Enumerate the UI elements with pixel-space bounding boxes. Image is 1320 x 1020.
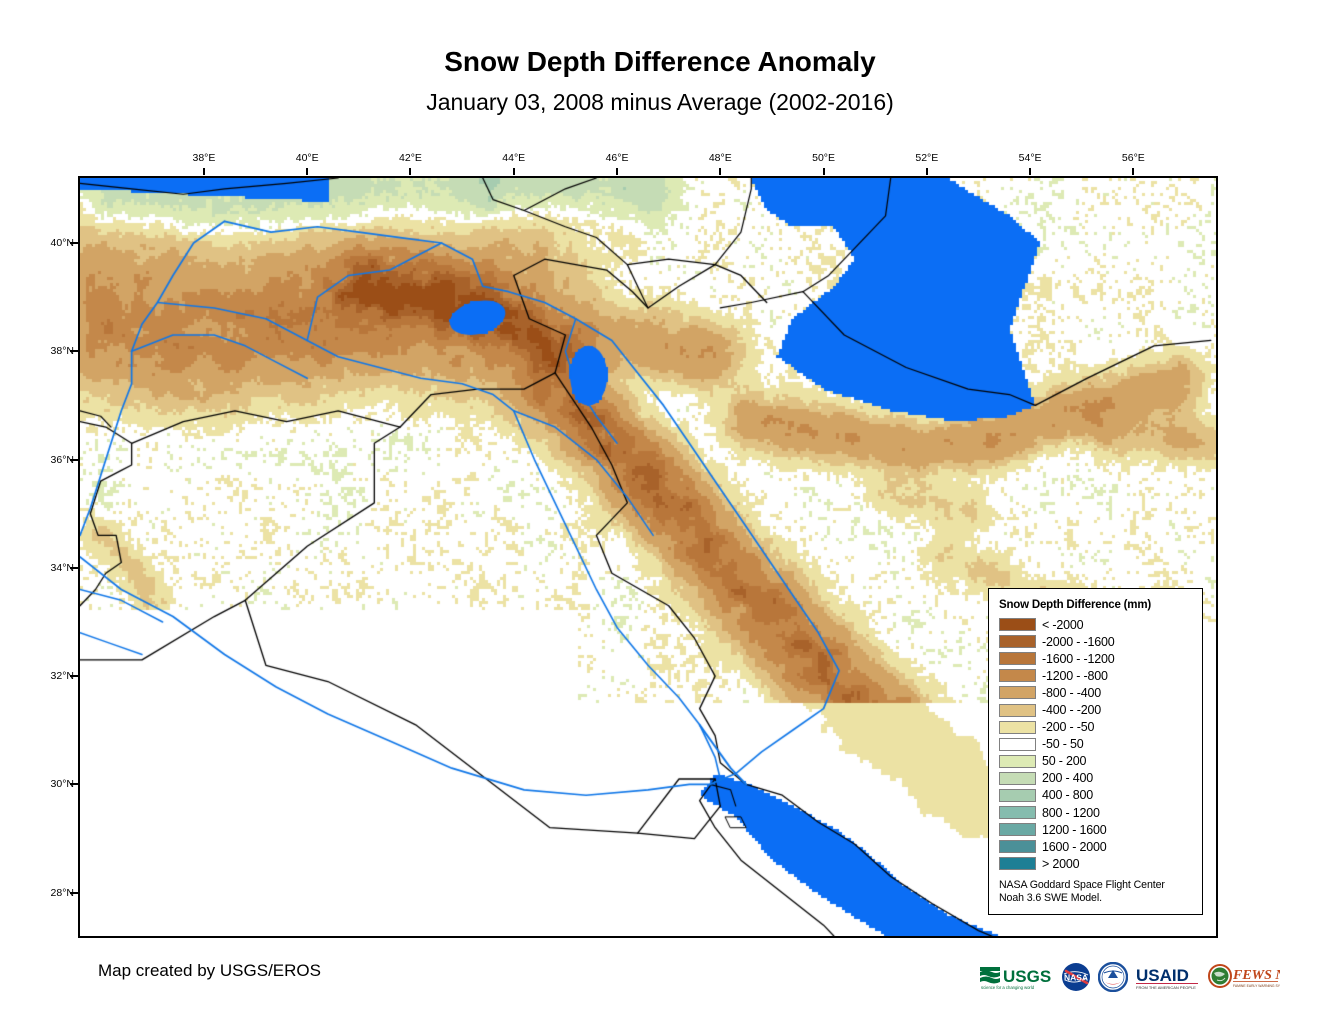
legend-item-label: 800 - 1200: [1042, 806, 1100, 820]
legend-swatch: [999, 618, 1036, 631]
legend-source-line-2: Noah 3.6 SWE Model.: [999, 892, 1194, 905]
legend-item: 1200 - 1600: [999, 821, 1194, 838]
lon-tick: [306, 168, 308, 175]
legend-item-label: 200 - 400: [1042, 771, 1093, 785]
svg-text:USGS: USGS: [1003, 967, 1051, 986]
legend-item: > 2000: [999, 855, 1194, 872]
map-page: Snow Depth Difference Anomaly January 03…: [0, 0, 1320, 1020]
fewsnet-logo: FEWS NET FAMINE EARLY WARNING SYSTEMS NE…: [1208, 961, 1280, 993]
lon-tick: [1132, 168, 1134, 175]
lon-label: 56°E: [1122, 152, 1145, 164]
legend-swatch: [999, 789, 1036, 802]
lat-tick: [70, 459, 78, 461]
lat-label: 40°N: [36, 237, 74, 249]
legend-item-label: -800 - -400: [1042, 686, 1101, 700]
legend-panel: Snow Depth Difference (mm) < -2000-2000 …: [988, 588, 1203, 915]
legend-item: -400 - -200: [999, 701, 1194, 718]
lon-tick: [1029, 168, 1031, 175]
lat-label: 34°N: [36, 562, 74, 574]
lon-label: 52°E: [915, 152, 938, 164]
legend-source-line-1: NASA Goddard Space Flight Center: [999, 879, 1194, 892]
legend-item: -1200 - -800: [999, 667, 1194, 684]
page-title: Snow Depth Difference Anomaly: [0, 46, 1320, 78]
agency-logo-bar: USGS science for a changing world NASA: [978, 957, 1240, 997]
footer-credit: Map created by USGS/EROS: [98, 961, 321, 981]
lon-tick: [513, 168, 515, 175]
legend-item-label: 1600 - 2000: [1042, 840, 1107, 854]
legend-item-label: < -2000: [1042, 618, 1083, 632]
lat-tick: [70, 783, 78, 785]
legend-swatch: [999, 823, 1036, 836]
legend-item: 800 - 1200: [999, 804, 1194, 821]
legend-swatch: [999, 686, 1036, 699]
legend-item: < -2000: [999, 616, 1194, 633]
nasa-logo: NASA: [1061, 961, 1091, 993]
legend-swatch: [999, 635, 1036, 648]
legend-item: -50 - 50: [999, 736, 1194, 753]
svg-text:science for a changing world: science for a changing world: [981, 985, 1035, 990]
legend-item: -200 - -50: [999, 719, 1194, 736]
legend-item: 400 - 800: [999, 787, 1194, 804]
lat-tick: [70, 675, 78, 677]
lon-tick: [719, 168, 721, 175]
lon-label: 42°E: [399, 152, 422, 164]
lat-label: 28°N: [36, 887, 74, 899]
usgs-logo: USGS science for a changing world: [978, 961, 1054, 993]
legend-item: -1600 - -1200: [999, 650, 1194, 667]
svg-text:NASA: NASA: [1064, 973, 1088, 983]
legend-item: -800 - -400: [999, 684, 1194, 701]
legend-item-label: -1200 - -800: [1042, 669, 1108, 683]
lat-label: 32°N: [36, 670, 74, 682]
lon-label: 44°E: [502, 152, 525, 164]
legend-item: 1600 - 2000: [999, 838, 1194, 855]
legend-item-label: 50 - 200: [1042, 754, 1086, 768]
svg-text:FROM THE AMERICAN PEOPLE: FROM THE AMERICAN PEOPLE: [1136, 985, 1196, 990]
legend-item-label: -400 - -200: [1042, 703, 1101, 717]
usaid-logo: USAID FROM THE AMERICAN PEOPLE: [1135, 961, 1201, 993]
lat-tick: [70, 892, 78, 894]
legend-source: NASA Goddard Space Flight Center Noah 3.…: [999, 879, 1194, 904]
legend-swatch: [999, 857, 1036, 870]
svg-text:FEWS NET: FEWS NET: [1232, 968, 1280, 983]
legend-item-label: -50 - 50: [1042, 737, 1083, 751]
legend-swatch: [999, 669, 1036, 682]
legend-item-label: 400 - 800: [1042, 788, 1093, 802]
lon-label: 46°E: [606, 152, 629, 164]
legend-swatch: [999, 704, 1036, 717]
lon-label: 38°E: [192, 152, 215, 164]
lon-tick: [616, 168, 618, 175]
legend-item: -2000 - -1600: [999, 633, 1194, 650]
legend-item-label: -2000 - -1600: [1042, 635, 1114, 649]
svg-text:FAMINE EARLY WARNING SYSTEMS N: FAMINE EARLY WARNING SYSTEMS NETWORK: [1233, 984, 1280, 988]
lon-label: 50°E: [812, 152, 835, 164]
lon-label: 54°E: [1019, 152, 1042, 164]
legend-swatch: [999, 721, 1036, 734]
page-subtitle: January 03, 2008 minus Average (2002-201…: [0, 89, 1320, 116]
legend-item: 200 - 400: [999, 770, 1194, 787]
legend-title: Snow Depth Difference (mm): [999, 599, 1194, 611]
lon-tick: [203, 168, 205, 175]
lon-tick: [409, 168, 411, 175]
legend-item-label: -1600 - -1200: [1042, 652, 1114, 666]
legend-swatch: [999, 806, 1036, 819]
legend-swatch: [999, 755, 1036, 768]
lat-tick: [70, 567, 78, 569]
legend-swatch: [999, 738, 1036, 751]
lon-label: 48°E: [709, 152, 732, 164]
noaa-logo: [1098, 961, 1128, 993]
lat-tick: [70, 350, 78, 352]
lat-label: 38°N: [36, 345, 74, 357]
lon-label: 40°E: [296, 152, 319, 164]
legend-item-label: -200 - -50: [1042, 720, 1094, 734]
legend-swatch: [999, 652, 1036, 665]
lat-label: 36°N: [36, 454, 74, 466]
svg-text:USAID: USAID: [1136, 966, 1189, 985]
legend-item-label: 1200 - 1600: [1042, 823, 1107, 837]
legend-swatch: [999, 772, 1036, 785]
legend-item: 50 - 200: [999, 753, 1194, 770]
lat-label: 30°N: [36, 778, 74, 790]
legend-swatch: [999, 840, 1036, 853]
lon-tick: [926, 168, 928, 175]
legend-items: < -2000-2000 - -1600-1600 - -1200-1200 -…: [999, 616, 1194, 872]
legend-item-label: > 2000: [1042, 857, 1079, 871]
lat-tick: [70, 242, 78, 244]
lon-tick: [823, 168, 825, 175]
